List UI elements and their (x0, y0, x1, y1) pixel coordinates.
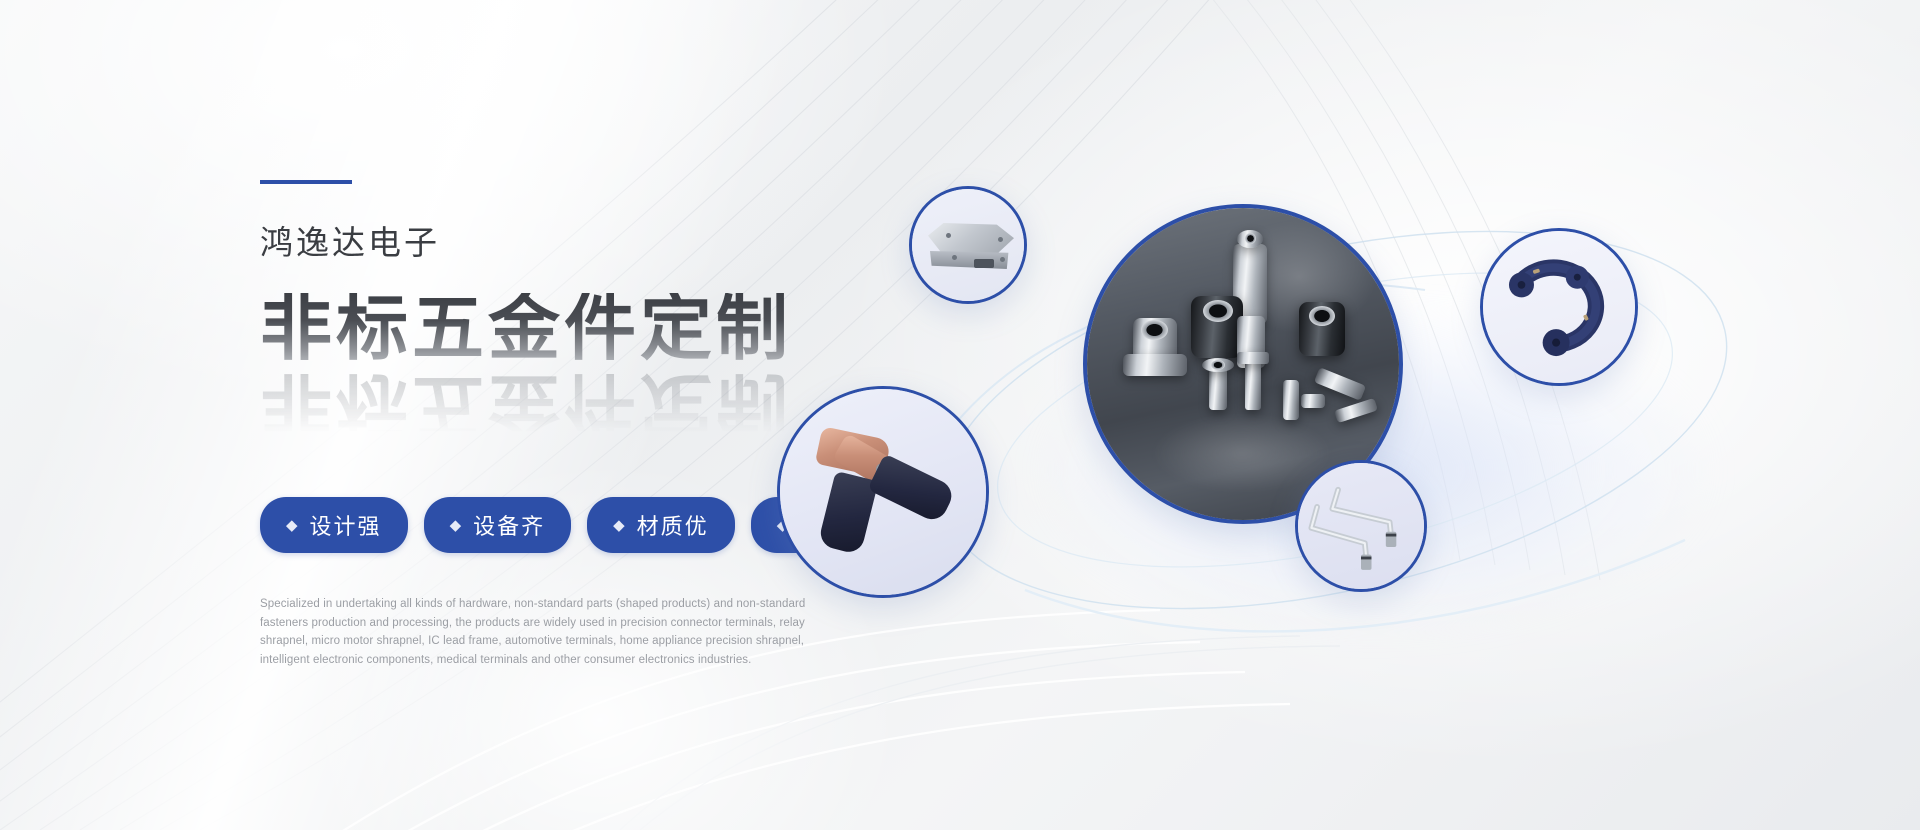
hero-banner: 鸿逸达电子 非标五金件定制 非标五金件定制 ◆ 设计强 ◆ 设备齐 ◆ 材质优 … (0, 0, 1920, 830)
diamond-icon: ◆ (450, 518, 464, 533)
badge-label: 材质优 (637, 509, 709, 541)
diamond-icon: ◆ (286, 518, 300, 533)
bubble-terminal-pins[interactable] (1295, 460, 1427, 592)
badge-design[interactable]: ◆ 设计强 (260, 497, 408, 553)
badge-label: 设备齐 (473, 509, 545, 541)
bubble-metal-enclosure[interactable] (909, 186, 1027, 304)
bubble-retaining-ring[interactable] (1480, 228, 1638, 386)
badge-equipment[interactable]: ◆ 设备齐 (424, 497, 572, 553)
page-title: 非标五金件定制 (260, 293, 920, 365)
bubble-battery-clamp[interactable] (777, 386, 989, 598)
accent-rule (260, 180, 352, 184)
badge-material[interactable]: ◆ 材质优 (587, 497, 735, 553)
description-paragraph: Specialized in undertaking all kinds of … (260, 595, 826, 670)
metal-enclosure-photo (912, 189, 1024, 301)
retaining-ring-photo (1483, 231, 1635, 383)
orbit-lines (905, 120, 1905, 740)
battery-clamp-photo (780, 389, 986, 595)
bent-terminal-pins-photo (1298, 463, 1424, 589)
product-visual-cluster (905, 120, 1905, 740)
badge-label: 设计强 (310, 509, 382, 541)
headline-reflection: 非标五金件定制 (260, 369, 792, 441)
brand-name: 鸿逸达电子 (260, 226, 920, 259)
diamond-icon: ◆ (613, 518, 627, 533)
